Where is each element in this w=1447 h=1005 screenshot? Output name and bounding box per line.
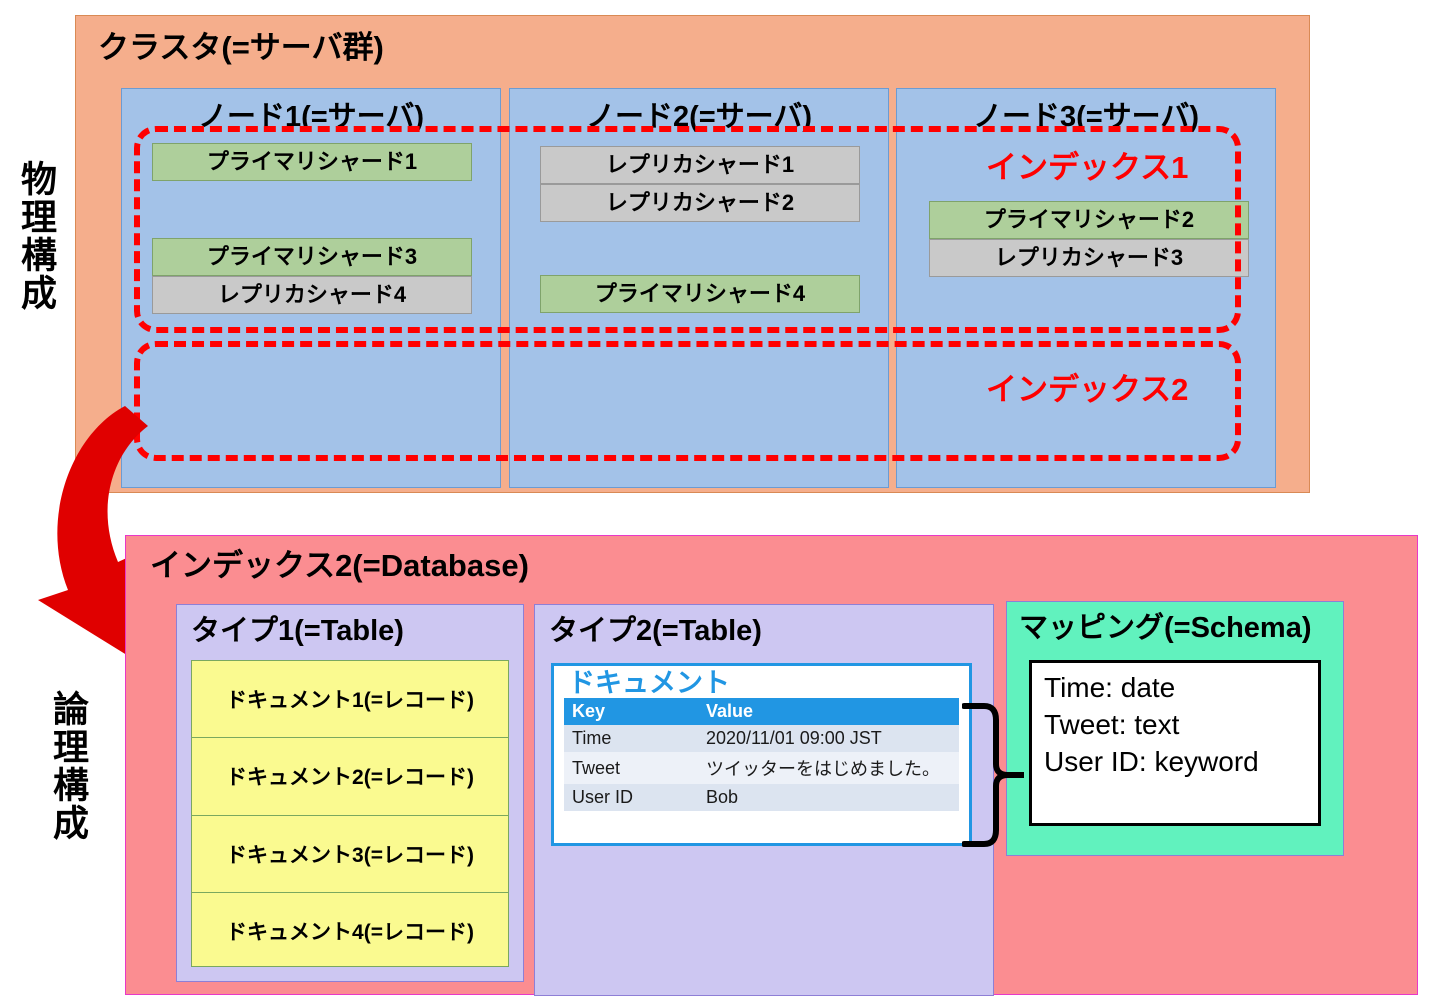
index2-title: インデックス2(=Database) bbox=[150, 540, 529, 585]
cell-value: 2020/11/01 09:00 JST bbox=[698, 725, 959, 752]
schema-box: Time: date Tweet: text User ID: keyword bbox=[1029, 660, 1321, 826]
index-label-1: インデックス1 bbox=[986, 142, 1188, 187]
side-label-logical: 論理構成 bbox=[42, 690, 94, 842]
cell-key: User ID bbox=[564, 784, 698, 811]
node-title-2: ノード2(=サーバ) bbox=[510, 93, 888, 135]
table-row: User ID Bob bbox=[564, 784, 959, 811]
shard-chip: レプリカシャード2 bbox=[540, 184, 860, 222]
list-item: ドキュメント3(=レコード) bbox=[192, 816, 508, 893]
schema-field: Tweet: text bbox=[1044, 706, 1318, 743]
cell-value: ツイッターをはじめました。 bbox=[698, 752, 959, 784]
type1-box: タイプ1(=Table) ドキュメント1(=レコード) ドキュメント2(=レコー… bbox=[176, 604, 524, 982]
shard-chip: レプリカシャード1 bbox=[540, 146, 860, 184]
document-card: ドキュメント Key Value Time 2020/11/01 09:00 J… bbox=[551, 663, 972, 846]
diagram-canvas: 物理構成 論理構成 クラスタ(=サーバ群) ノード1(=サーバ) プライマリシャ… bbox=[0, 0, 1447, 1005]
cell-value: Bob bbox=[698, 784, 959, 811]
document-card-title: ドキュメント bbox=[554, 666, 969, 698]
shard-chip: レプリカシャード4 bbox=[152, 276, 472, 314]
cluster-box: クラスタ(=サーバ群) ノード1(=サーバ) プライマリシャード1 プライマリシ… bbox=[75, 15, 1310, 493]
type1-title: タイプ1(=Table) bbox=[191, 607, 404, 649]
document-list: ドキュメント1(=レコード) ドキュメント2(=レコード) ドキュメント3(=レ… bbox=[191, 660, 509, 967]
mapping-title: マッピング(=Schema) bbox=[1019, 604, 1311, 646]
type2-box: タイプ2(=Table) ドキュメント Key Value Time 2020/… bbox=[534, 604, 994, 996]
node-box-2: ノード2(=サーバ) レプリカシャード1 レプリカシャード2 プライマリシャード… bbox=[509, 88, 889, 488]
document-kv-table: Key Value Time 2020/11/01 09:00 JST Twee… bbox=[564, 698, 959, 811]
column-header-value: Value bbox=[698, 698, 959, 725]
side-label-physical: 物理構成 bbox=[10, 160, 62, 312]
node-title-1: ノード1(=サーバ) bbox=[122, 93, 500, 135]
index-label-2: インデックス2 bbox=[986, 364, 1188, 409]
schema-field: User ID: keyword bbox=[1044, 743, 1318, 780]
bracket-connector-icon bbox=[962, 700, 1024, 850]
cluster-title: クラスタ(=サーバ群) bbox=[98, 22, 384, 67]
shard-chip: レプリカシャード3 bbox=[929, 239, 1249, 277]
column-header-key: Key bbox=[564, 698, 698, 725]
shard-chip: プライマリシャード4 bbox=[540, 275, 860, 313]
index2-box: インデックス2(=Database) タイプ1(=Table) ドキュメント1(… bbox=[125, 535, 1418, 995]
table-row: Tweet ツイッターをはじめました。 bbox=[564, 752, 959, 784]
list-item: ドキュメント4(=レコード) bbox=[192, 893, 508, 969]
mapping-box: マッピング(=Schema) Time: date Tweet: text Us… bbox=[1006, 601, 1344, 856]
node-title-3: ノード3(=サーバ) bbox=[897, 93, 1275, 135]
type2-title: タイプ2(=Table) bbox=[549, 607, 762, 649]
list-item: ドキュメント1(=レコード) bbox=[192, 661, 508, 738]
table-row: Time 2020/11/01 09:00 JST bbox=[564, 725, 959, 752]
shard-chip: プライマリシャード2 bbox=[929, 201, 1249, 239]
cell-key: Tweet bbox=[564, 752, 698, 784]
list-item: ドキュメント2(=レコード) bbox=[192, 738, 508, 815]
shard-chip: プライマリシャード3 bbox=[152, 238, 472, 276]
shard-chip: プライマリシャード1 bbox=[152, 143, 472, 181]
cell-key: Time bbox=[564, 725, 698, 752]
schema-field: Time: date bbox=[1044, 669, 1318, 706]
